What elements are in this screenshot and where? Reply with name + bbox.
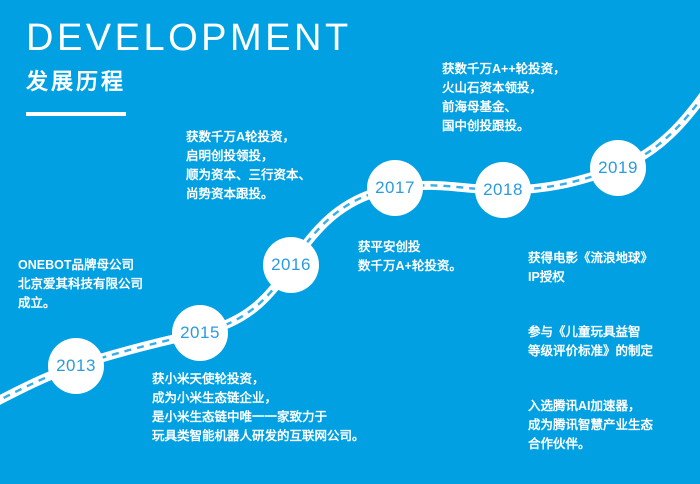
timeline-node-2019[interactable]: 2019	[590, 140, 646, 196]
entry-text-2019: 获得电影《流浪地球》 IP授权 参与《儿童玩具益智 等级评价标准》的制定 入选腾…	[528, 230, 700, 473]
entry-text-2016: 获数千万A轮投资， 启明创投领投， 顺为资本、三行资本、 尚势资本跟投。	[186, 128, 406, 204]
entry-text-2019-part-2: 参与《儿童玩具益智 等级评价标准》的制定	[528, 323, 700, 361]
entry-text-2019-part-1: 获得电影《流浪地球》 IP授权	[528, 249, 700, 287]
timeline-node-2015[interactable]: 2015	[172, 305, 228, 361]
entry-text-2017: 获平安创投 数千万A+轮投资。	[358, 238, 528, 276]
timeline-node-2013[interactable]: 2013	[48, 338, 104, 394]
development-timeline-infographic: DEVELOPMENT 发展历程 2013 2015 2016 2017 201…	[0, 0, 700, 484]
entry-text-2015: 获小米天使轮投资， 成为小米生态链企业， 是小米生态链中唯一一家致力于 玩具类智…	[152, 370, 482, 446]
entry-text-2019-part-3: 入选腾讯AI加速器， 成为腾讯智慧产业生态 合作伙伴。	[528, 397, 700, 454]
entry-text-2013: ONEBOT品牌母公司 北京爱其科技有限公司 成立。	[18, 256, 218, 313]
entry-text-2018: 获数千万A++轮投资， 火山石资本领投， 前海母基金、 国中创投跟投。	[442, 60, 662, 136]
timeline-node-2016[interactable]: 2016	[263, 237, 319, 293]
timeline-node-2018[interactable]: 2018	[475, 162, 531, 218]
